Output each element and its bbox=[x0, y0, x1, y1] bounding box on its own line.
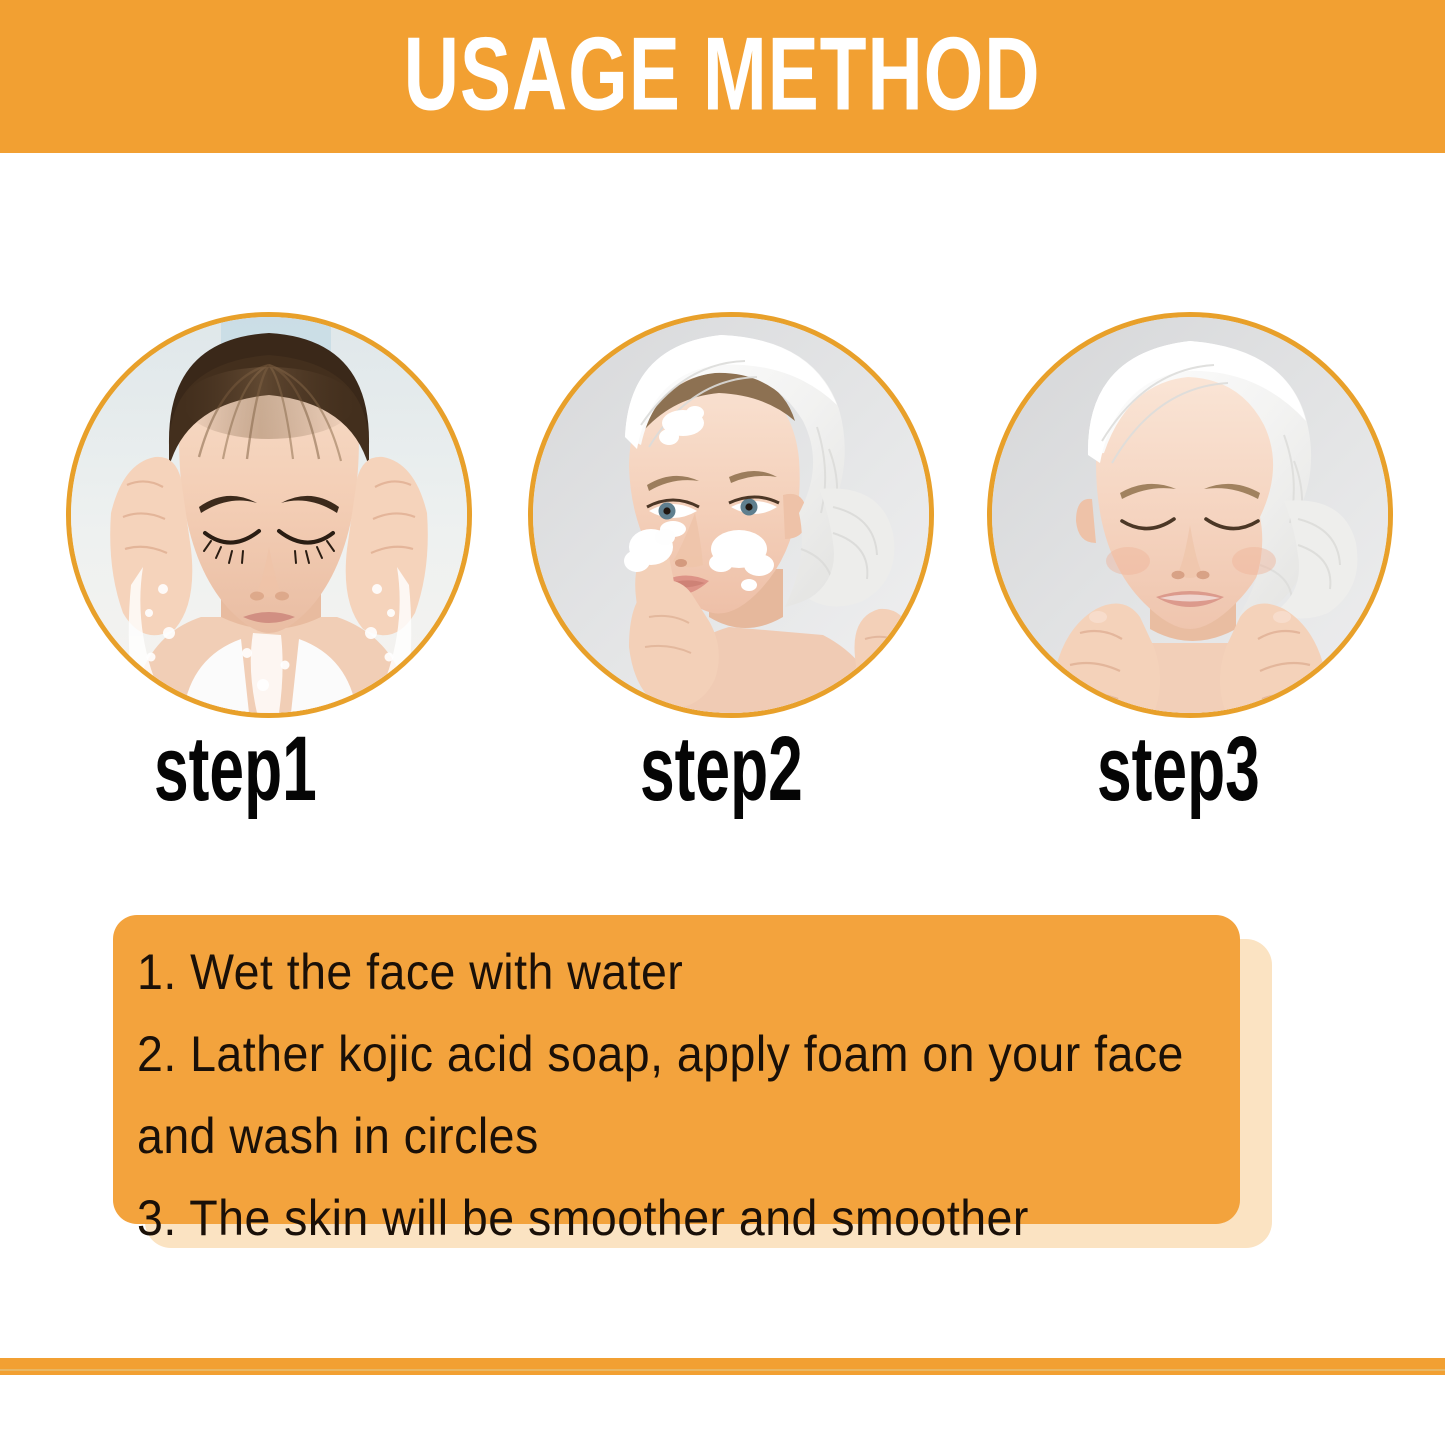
step1-photo-wet-face bbox=[71, 317, 467, 713]
instructions-box: 1. Wet the face with water 2. Lather koj… bbox=[113, 915, 1240, 1224]
footer-bar-highlight bbox=[0, 1369, 1445, 1371]
step-label-3: step3 bbox=[1097, 724, 1260, 816]
header-band: USAGE METHOD bbox=[0, 0, 1445, 153]
step-item-3: step3 bbox=[975, 300, 1395, 820]
step3-photo-smooth-skin bbox=[992, 317, 1388, 713]
instructions-block: 1. Wet the face with water 2. Lather koj… bbox=[113, 915, 1273, 1250]
steps-row: step1 bbox=[0, 300, 1445, 820]
instruction-line-2: 2. Lather kojic acid soap, apply foam on… bbox=[137, 1013, 1140, 1095]
step2-photo-apply-foam bbox=[533, 317, 929, 713]
step-label-1: step1 bbox=[154, 724, 317, 816]
step2-circle-frame bbox=[528, 312, 934, 718]
instruction-line-3: and wash in circles bbox=[137, 1095, 1140, 1177]
page-title: USAGE METHOD bbox=[404, 23, 1041, 127]
instruction-line-4: 3. The skin will be smoother and smoothe… bbox=[137, 1177, 1140, 1259]
step-item-2: step2 bbox=[520, 300, 940, 820]
step-item-1: step1 bbox=[58, 300, 478, 820]
instruction-line-1: 1. Wet the face with water bbox=[137, 931, 1140, 1013]
footer-bar bbox=[0, 1358, 1445, 1375]
step1-circle-frame bbox=[66, 312, 472, 718]
step-label-2: step2 bbox=[640, 724, 803, 816]
step3-circle-frame bbox=[987, 312, 1393, 718]
